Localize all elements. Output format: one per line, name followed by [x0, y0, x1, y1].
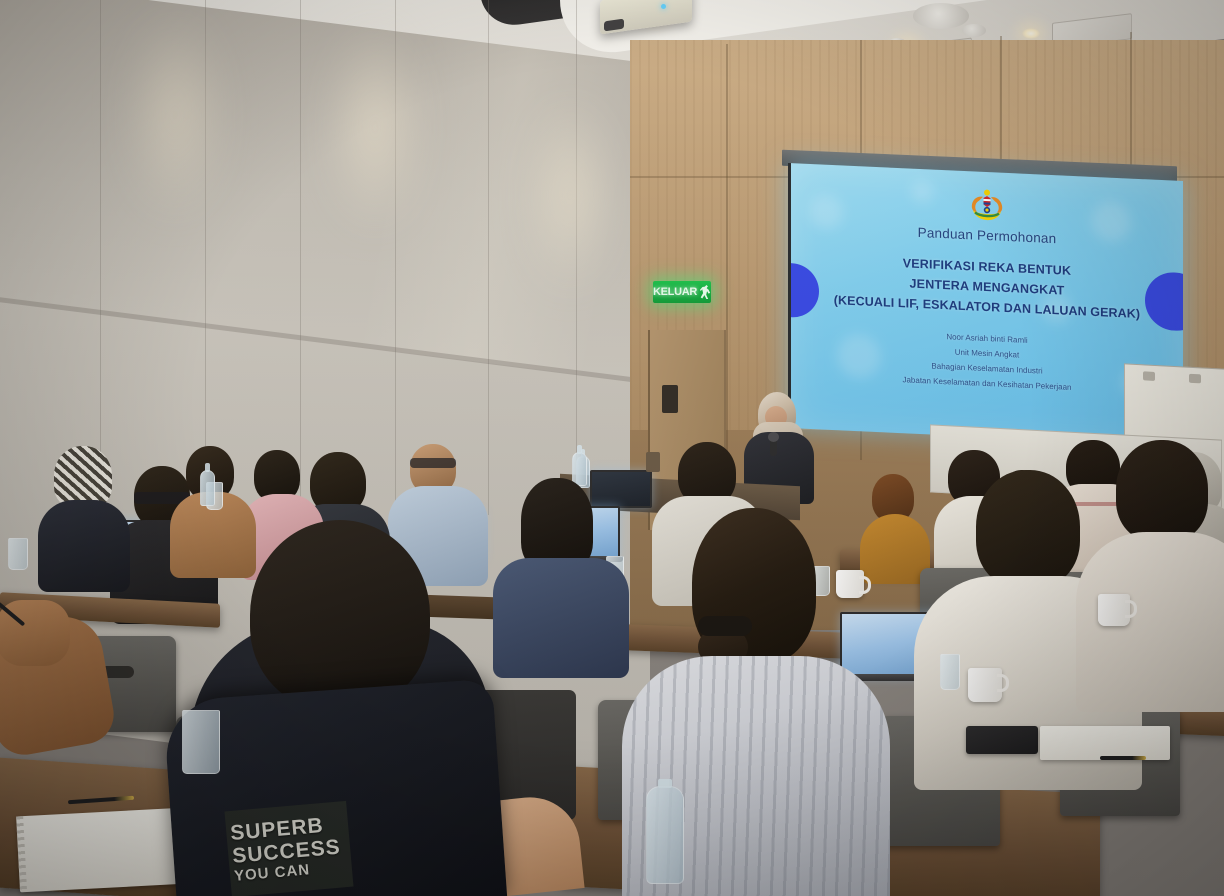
ceiling-speaker-icon	[962, 24, 986, 37]
backpack-text-patch: SUPERB SUCCESS YOU CAN	[224, 801, 353, 896]
attendee-front-far-right	[1090, 440, 1224, 690]
glasses-icon	[410, 458, 456, 468]
foreground-hands	[0, 600, 70, 666]
water-bottle	[646, 786, 684, 884]
notebook	[1040, 726, 1170, 760]
attendee	[44, 446, 120, 574]
water-bottle	[200, 470, 215, 506]
wall-seam	[488, 0, 489, 515]
conference-room-photo: KELUAR Panduan Permohonan VERIFIKASI REK…	[0, 0, 1224, 896]
wall-light-wash	[330, 20, 420, 235]
flipchart-clip	[1189, 374, 1201, 384]
projector-status-led	[661, 4, 666, 9]
spiral-notebook	[16, 808, 188, 893]
pen	[1100, 756, 1146, 760]
water-glass	[940, 654, 960, 690]
wood-seam	[726, 44, 728, 464]
downlight-icon	[1022, 28, 1040, 39]
microphone-head	[768, 432, 779, 442]
coffee-mug	[1098, 594, 1130, 626]
attendee	[862, 474, 924, 570]
malaysia-coat-of-arms-icon	[965, 187, 1009, 223]
coffee-mug	[968, 668, 1002, 702]
wall-light-wash	[530, 95, 610, 295]
mobile-phone	[966, 726, 1038, 754]
running-man-icon	[700, 285, 711, 299]
water-glass	[182, 710, 220, 774]
exit-sign-label: KELUAR	[653, 286, 697, 298]
wall-light-wash	[130, 10, 220, 220]
hair-tie	[698, 616, 752, 636]
podium-item	[646, 452, 660, 472]
flipchart-clip	[1143, 371, 1155, 381]
attendee	[505, 478, 615, 658]
door-handle[interactable]	[662, 385, 678, 413]
exit-sign: KELUAR	[653, 281, 711, 303]
water-glass	[8, 538, 28, 570]
ceiling-speaker-icon	[913, 3, 969, 29]
foreground-person-head	[250, 520, 430, 710]
